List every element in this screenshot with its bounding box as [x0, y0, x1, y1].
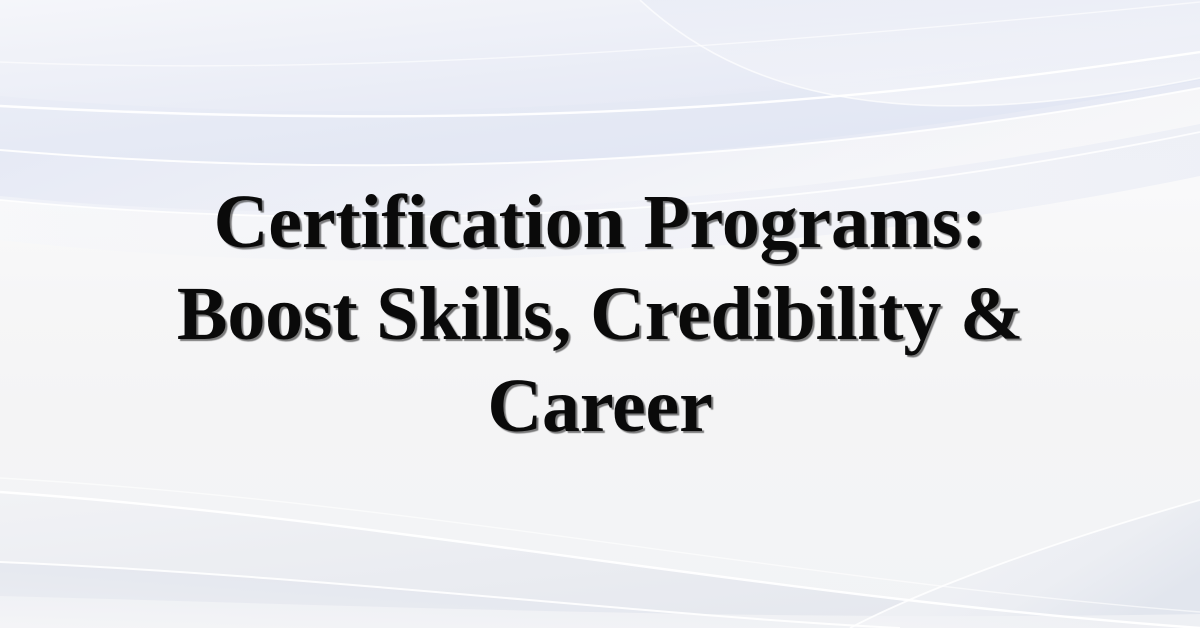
banner-card: Certification Programs: Boost Skills, Cr… [0, 0, 1200, 628]
headline-container: Certification Programs: Boost Skills, Cr… [0, 0, 1200, 628]
headline-line-2: Boost Skills, Credibility & [80, 268, 1120, 360]
page-title: Certification Programs: Boost Skills, Cr… [80, 176, 1120, 452]
headline-line-1: Certification Programs: [80, 176, 1120, 268]
headline-line-3: Career [80, 360, 1120, 452]
